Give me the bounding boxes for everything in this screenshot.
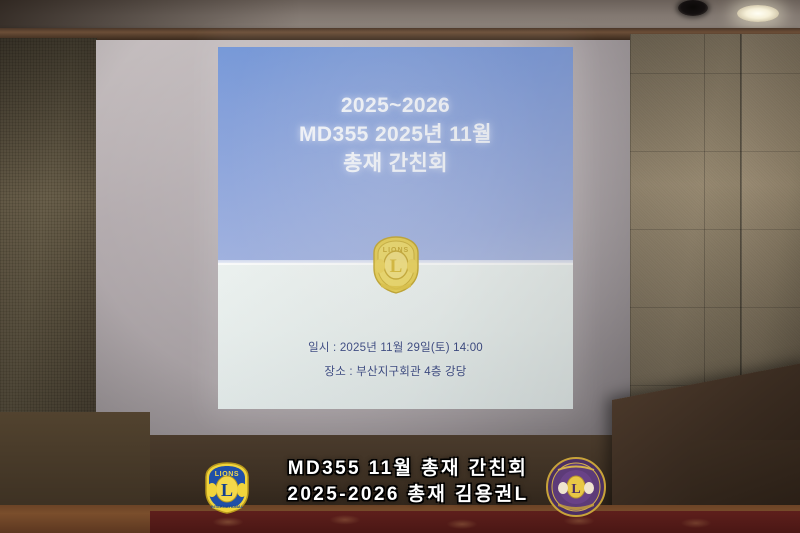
projected-slide: 2025~2026 MD355 2025년 11월 총재 간친회 L LIONS… — [218, 47, 573, 409]
slide-title-line-3: 총재 간친회 — [218, 149, 573, 178]
photo-scene: 2025~2026 MD355 2025년 11월 총재 간친회 L LIONS… — [0, 0, 800, 533]
district-355-emblem-icon: L — [545, 456, 607, 518]
slide-title: 2025~2026 MD355 2025년 11월 총재 간친회 — [218, 91, 573, 178]
speaker-vent-icon — [678, 0, 708, 16]
district-emblem-letter: L — [571, 482, 580, 497]
caption-line-1: MD355 11월 총재 간친회 — [258, 456, 558, 482]
slide-title-line-1: 2025~2026 — [218, 91, 573, 120]
lions-international-emblem-icon: L LIONS — [368, 235, 424, 295]
slide-title-line-2: MD355 2025년 11월 — [218, 120, 573, 149]
slide-info: 일시 : 2025년 11월 29일(토) 14:00 장소 : 부산지구회관 … — [218, 336, 573, 384]
lions-international-emblem-icon: L LIONS INTERNATIONAL — [201, 461, 253, 515]
lions-emblem-letter: L — [221, 480, 233, 500]
lions-emblem-bottom-text: INTERNATIONAL — [211, 504, 244, 509]
slide-info-venue: 장소 : 부산지구회관 4층 강당 — [218, 360, 573, 384]
caption-overlay: L LIONS INTERNATIONAL MD355 11월 총재 간친회 2… — [198, 455, 618, 521]
svg-text:L: L — [389, 256, 402, 277]
downlight-icon — [737, 5, 779, 22]
left-wall-shading — [0, 38, 97, 438]
caption-line-2: 2025-2026 총재 김용권L — [258, 482, 558, 508]
lions-emblem-top-text: LIONS — [215, 471, 239, 478]
svg-text:LIONS: LIONS — [382, 247, 408, 254]
caption-text: MD355 11월 총재 간친회 2025-2026 총재 김용권L — [258, 456, 558, 508]
slide-info-datetime: 일시 : 2025년 11월 29일(토) 14:00 — [218, 336, 573, 360]
lower-wall-left — [0, 412, 150, 513]
